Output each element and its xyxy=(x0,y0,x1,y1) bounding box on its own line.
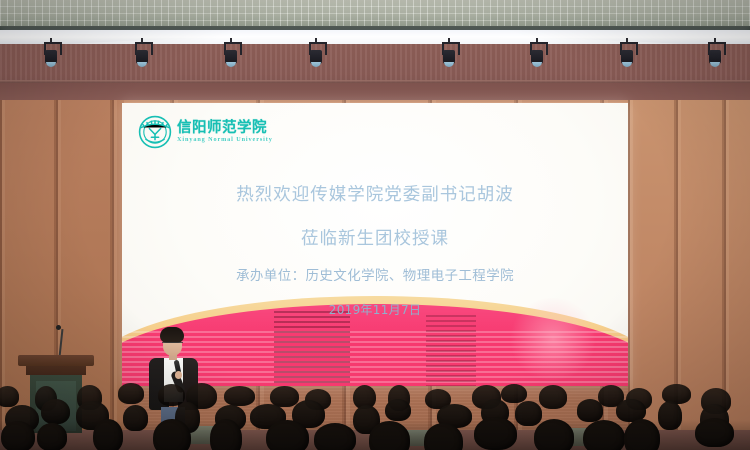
audience-member xyxy=(153,419,190,450)
audience-member xyxy=(224,386,255,406)
audience-member xyxy=(515,401,542,426)
spotlight-icon xyxy=(307,42,325,68)
audience-member xyxy=(385,399,411,421)
slide-date: 2019年11月7日 xyxy=(122,301,628,318)
wave-dark-stripes-left xyxy=(274,308,350,386)
slide-title-line-2: 莅临新生团校授课 xyxy=(122,225,628,250)
spotlight-icon xyxy=(528,42,546,68)
audience-member xyxy=(539,385,567,409)
logo-chinese-name: 信阳师范学院 xyxy=(177,121,273,136)
university-crest-icon xyxy=(138,115,172,149)
audience-member xyxy=(93,419,123,450)
audience-member xyxy=(158,384,185,406)
lectern-neck xyxy=(26,366,86,375)
wave-dark-stripes-right xyxy=(426,312,477,386)
audience-member xyxy=(501,384,527,403)
spotlight-icon xyxy=(42,42,60,68)
slide-subtitle-organizers: 承办单位：历史文化学院、物理电子工程学院 xyxy=(122,264,628,284)
logo-english-name: Xinyang Normal University xyxy=(177,137,273,143)
audience-member xyxy=(0,386,19,407)
spotlight-icon xyxy=(440,42,458,68)
audience-member xyxy=(474,417,518,450)
lecture-hall-photo: 信阳师范学院 Xinyang Normal University 热烈欢迎传媒学… xyxy=(0,0,750,450)
spotlight-icon xyxy=(222,42,240,68)
audience-member xyxy=(266,420,309,450)
wood-panel-wall-right xyxy=(628,100,750,430)
audience-member xyxy=(369,421,410,450)
spotlight-icon xyxy=(618,42,636,68)
audience-member xyxy=(424,423,463,450)
audience xyxy=(0,382,750,450)
gooseneck-microphone-head xyxy=(56,325,61,330)
presenter-hand xyxy=(175,371,182,379)
audience-member xyxy=(210,419,241,450)
audience-member xyxy=(314,423,356,450)
audience-member xyxy=(118,383,145,404)
university-logo: 信阳师范学院 Xinyang Normal University xyxy=(138,115,273,149)
spotlight-icon xyxy=(133,42,151,68)
lectern-top xyxy=(18,355,94,366)
ceiling-tiles xyxy=(0,0,750,28)
audience-member xyxy=(41,399,69,424)
audience-member xyxy=(37,423,68,450)
eyeglasses-icon xyxy=(162,342,183,347)
audience-member xyxy=(577,399,604,421)
audience-member xyxy=(1,421,34,450)
audience-member xyxy=(658,401,683,430)
presenter-hair xyxy=(160,327,184,343)
spotlight-icon xyxy=(706,42,724,68)
audience-member xyxy=(695,418,734,447)
audience-member xyxy=(123,405,148,430)
audience-member xyxy=(534,419,574,450)
slide-title-line-1: 热烈欢迎传媒学院党委副书记胡波 xyxy=(122,181,628,206)
